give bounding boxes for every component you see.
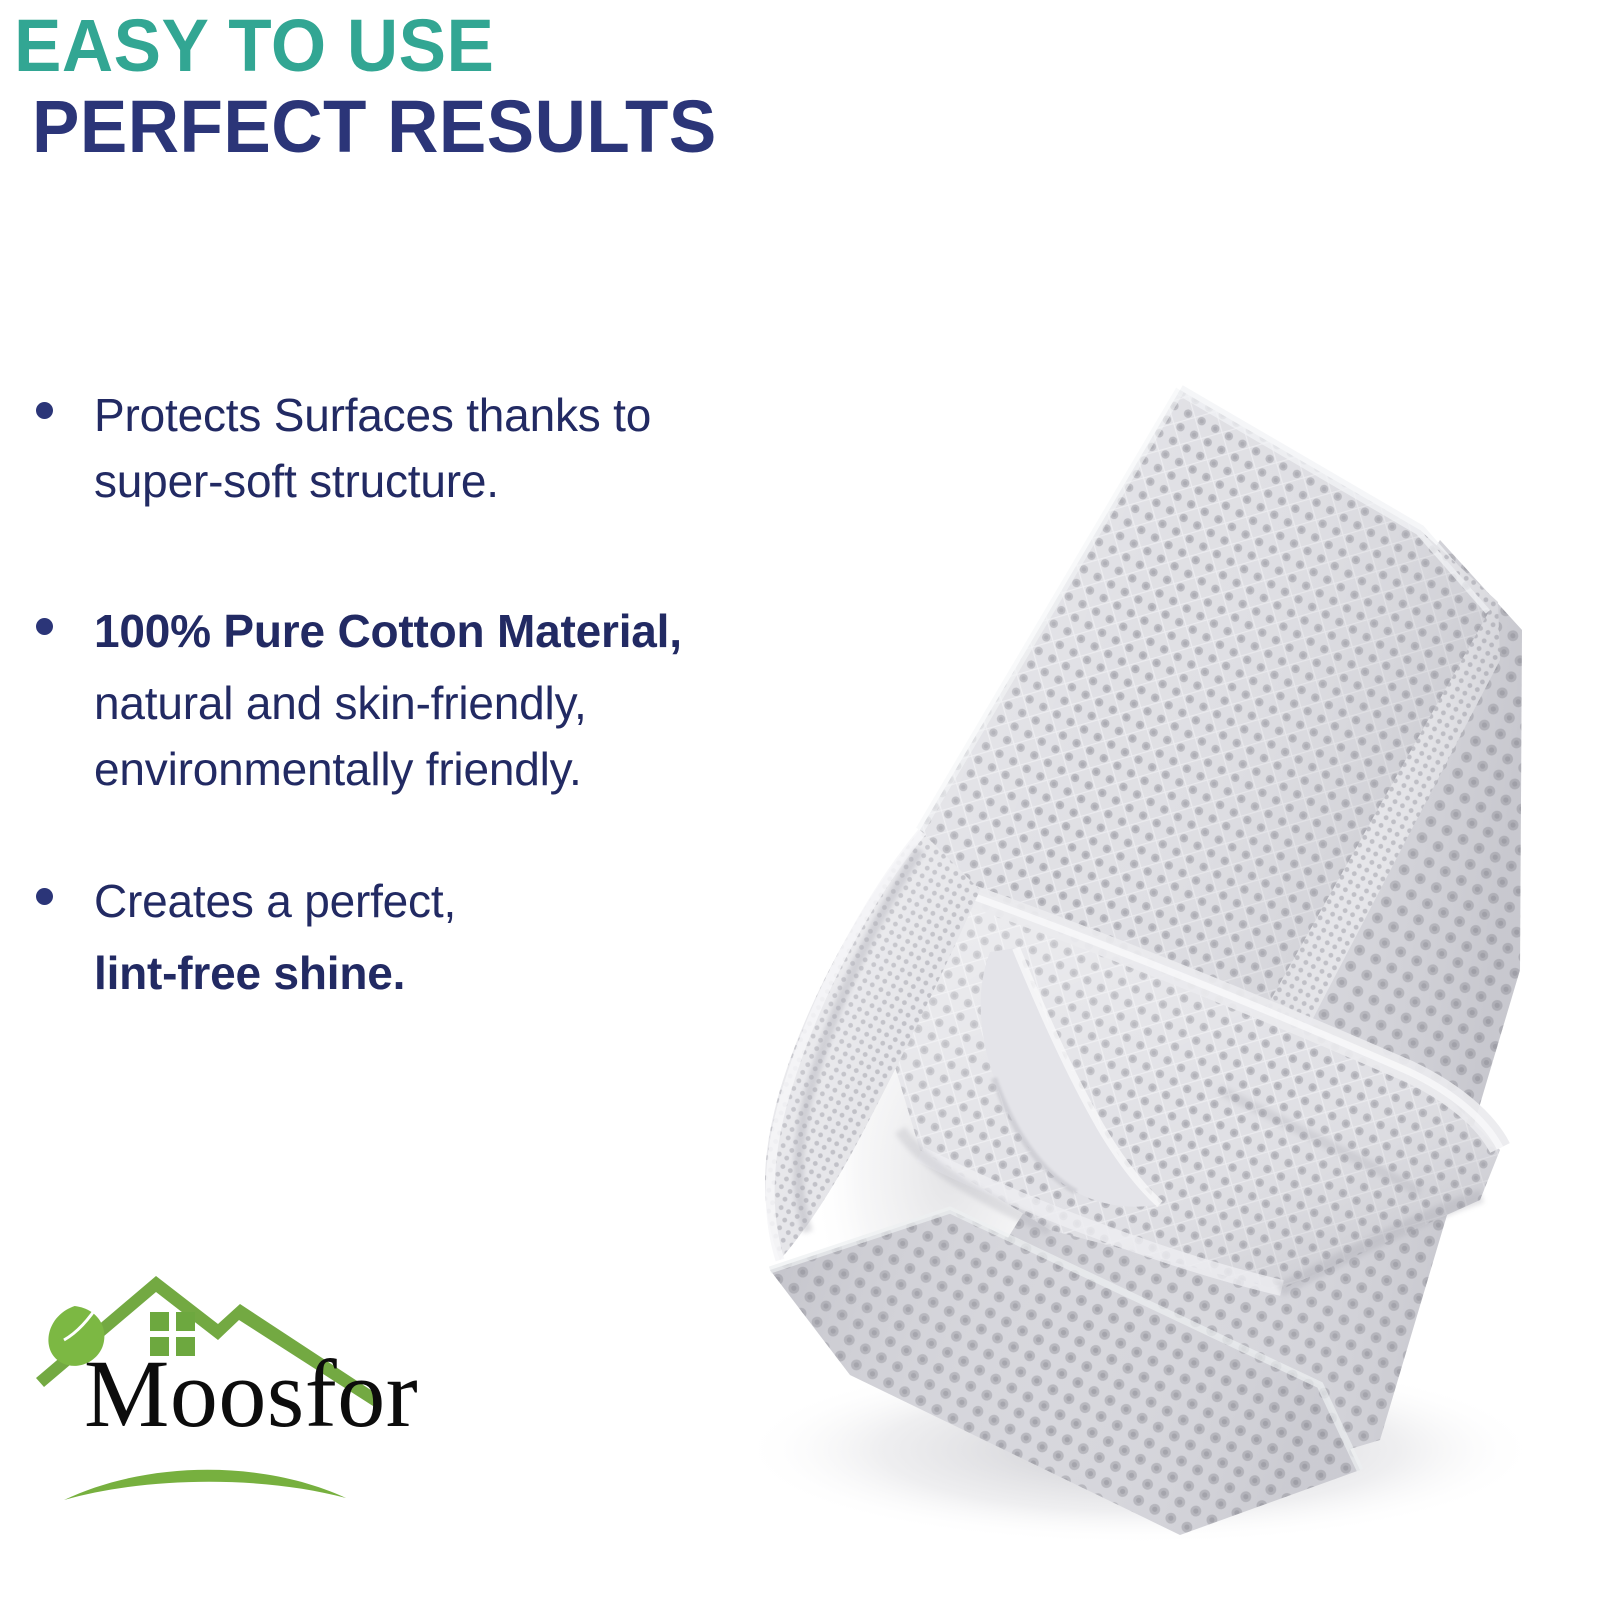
bullet-dot-icon <box>36 888 53 905</box>
bullet-dot-icon <box>36 402 53 419</box>
headline-line-1: EASY TO USE <box>14 6 878 86</box>
ground-arc-shape <box>64 1470 346 1500</box>
product-photo <box>620 330 1600 1580</box>
headline-block: EASY TO USE PERFECT RESULTS <box>14 6 914 168</box>
headline-line-2: PERFECT RESULTS <box>32 86 879 168</box>
bullet-dot-icon <box>36 618 53 635</box>
folded-towel-image <box>620 330 1600 1580</box>
product-feature-panel: EASY TO USE PERFECT RESULTS Protects Sur… <box>0 0 1600 1600</box>
brand-logo: Moosfor <box>28 1248 388 1518</box>
brand-wordmark: Moosfor <box>84 1344 418 1444</box>
